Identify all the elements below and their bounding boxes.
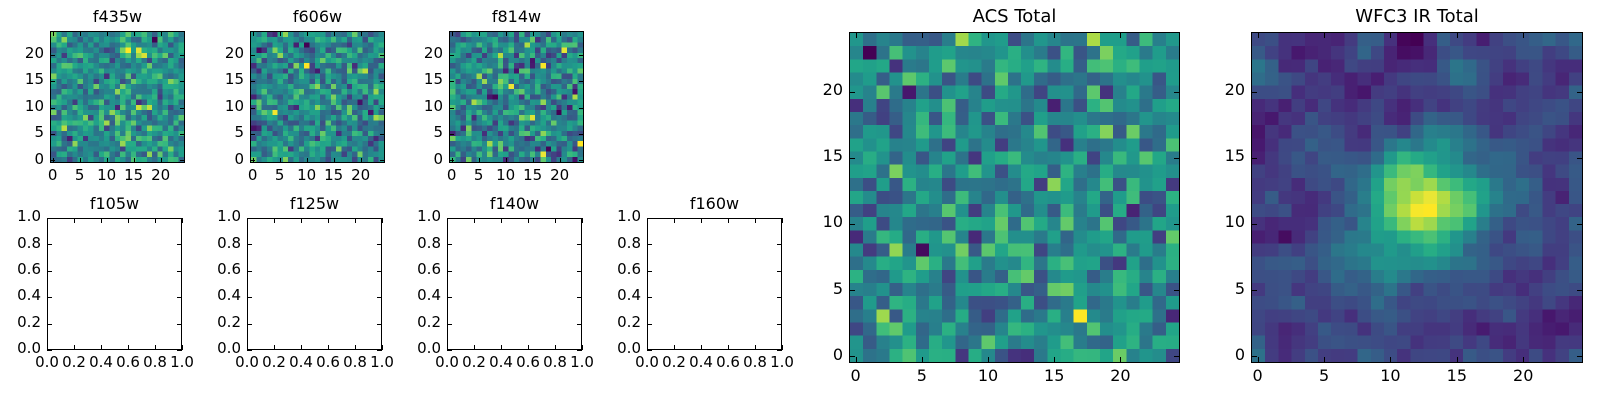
plot-area-acs_total[interactable] <box>849 32 1180 363</box>
xtick-top-f125w-2 <box>301 218 302 223</box>
ytick-f140w-5 <box>447 218 452 219</box>
yticklabel-f435w-0: 0 <box>0 150 44 168</box>
yticklabel-f140w-4: 0.8 <box>361 234 441 252</box>
ytick-f606w-2 <box>250 108 255 109</box>
ytick-right-f814w-3 <box>579 81 584 82</box>
ytick-f814w-1 <box>449 134 454 135</box>
yticklabel-f814w-3: 15 <box>363 70 443 88</box>
xtick-top-wfc3_ir_total-0 <box>1258 32 1259 38</box>
xtick-top-f140w-4 <box>555 218 556 223</box>
xtick-top-f435w-4 <box>161 31 162 36</box>
xticklabel-f606w-4: 20 <box>321 166 401 184</box>
yticklabel-f140w-5: 1.0 <box>361 207 441 225</box>
xtick-wfc3_ir_total-1 <box>1324 357 1325 363</box>
xtick-f105w-4 <box>155 345 156 350</box>
xtick-top-acs_total-0 <box>856 32 857 38</box>
xtick-top-f160w-4 <box>755 218 756 223</box>
xtick-f814w-4 <box>560 158 561 163</box>
xtick-f814w-2 <box>506 158 507 163</box>
yticklabel-f105w-1: 0.2 <box>0 313 41 331</box>
ytick-acs_total-1 <box>849 290 855 291</box>
ytick-f435w-0 <box>50 160 55 161</box>
xtick-f814w-1 <box>479 158 480 163</box>
xtick-top-f140w-3 <box>528 218 529 223</box>
yticklabel-f105w-0: 0.0 <box>0 339 41 357</box>
xtick-acs_total-4 <box>1120 357 1121 363</box>
xtick-top-acs_total-4 <box>1120 32 1121 38</box>
xticklabel-wfc3_ir_total-4: 20 <box>1483 366 1563 385</box>
ytick-right-f160w-3 <box>777 271 782 272</box>
ytick-wfc3_ir_total-2 <box>1251 224 1257 225</box>
ytick-f606w-0 <box>250 160 255 161</box>
xtick-top-acs_total-2 <box>988 32 989 38</box>
xtick-top-f606w-1 <box>280 31 281 36</box>
yticklabel-f435w-3: 15 <box>0 70 44 88</box>
ytick-f140w-2 <box>447 297 452 298</box>
yticklabel-acs_total-3: 15 <box>763 146 843 165</box>
yticklabel-f125w-1: 0.2 <box>161 313 241 331</box>
yticklabel-f435w-2: 10 <box>0 97 44 115</box>
xtick-top-f105w-3 <box>128 218 129 223</box>
ytick-acs_total-3 <box>849 158 855 159</box>
ytick-f435w-3 <box>50 81 55 82</box>
ytick-f160w-5 <box>647 218 652 219</box>
xtick-top-wfc3_ir_total-1 <box>1324 32 1325 38</box>
yticklabel-wfc3_ir_total-4: 20 <box>1165 80 1245 99</box>
yticklabel-f105w-3: 0.6 <box>0 260 41 278</box>
ytick-right-f814w-0 <box>579 160 584 161</box>
xtick-f814w-3 <box>533 158 534 163</box>
ytick-right-wfc3_ir_total-4 <box>1577 92 1583 93</box>
ytick-acs_total-4 <box>849 92 855 93</box>
xtick-top-f606w-3 <box>334 31 335 36</box>
xtick-top-f105w-2 <box>101 218 102 223</box>
ytick-f125w-5 <box>247 218 252 219</box>
ytick-f814w-4 <box>449 55 454 56</box>
yticklabel-f125w-4: 0.8 <box>161 234 241 252</box>
yticklabel-wfc3_ir_total-0: 0 <box>1165 345 1245 364</box>
xtick-f125w-2 <box>301 345 302 350</box>
yticklabel-f814w-0: 0 <box>363 150 443 168</box>
panel-title-acs_total: ACS Total <box>849 6 1180 27</box>
ytick-f160w-4 <box>647 244 652 245</box>
ytick-f105w-0 <box>47 350 52 351</box>
xtick-top-f105w-4 <box>155 218 156 223</box>
yticklabel-acs_total-2: 10 <box>763 212 843 231</box>
ytick-f140w-3 <box>447 271 452 272</box>
panel-title-wfc3_ir_total: WFC3 IR Total <box>1251 6 1583 27</box>
xtick-top-f125w-1 <box>274 218 275 223</box>
xtick-f160w-1 <box>674 345 675 350</box>
ytick-f435w-1 <box>50 134 55 135</box>
xtick-top-f140w-1 <box>474 218 475 223</box>
xtick-top-f125w-3 <box>328 218 329 223</box>
xtick-top-f435w-1 <box>80 31 81 36</box>
yticklabel-f125w-2: 0.4 <box>161 286 241 304</box>
panel-title-f160w: f160w <box>647 194 782 213</box>
ytick-f105w-1 <box>47 324 52 325</box>
ytick-right-f814w-1 <box>579 134 584 135</box>
ytick-f814w-3 <box>449 81 454 82</box>
xtick-top-wfc3_ir_total-2 <box>1390 32 1391 38</box>
ytick-wfc3_ir_total-4 <box>1251 92 1257 93</box>
ytick-acs_total-0 <box>849 356 855 357</box>
yticklabel-wfc3_ir_total-1: 5 <box>1165 279 1245 298</box>
ytick-right-wfc3_ir_total-3 <box>1577 158 1583 159</box>
ytick-wfc3_ir_total-3 <box>1251 158 1257 159</box>
xtick-f435w-3 <box>134 158 135 163</box>
plot-area-f814w[interactable] <box>449 31 584 163</box>
xtick-f435w-4 <box>161 158 162 163</box>
xtick-top-f140w-2 <box>501 218 502 223</box>
xtick-acs_total-1 <box>922 357 923 363</box>
heatmap-image-wfc3_ir_total <box>1252 33 1582 362</box>
yticklabel-f606w-1: 5 <box>164 123 244 141</box>
ytick-f814w-0 <box>449 160 454 161</box>
yticklabel-f814w-1: 5 <box>363 123 443 141</box>
yticklabel-f606w-3: 15 <box>164 70 244 88</box>
yticklabel-f125w-5: 1.0 <box>161 207 241 225</box>
ytick-f606w-1 <box>250 134 255 135</box>
yticklabel-f160w-3: 0.6 <box>561 260 641 278</box>
xtick-wfc3_ir_total-4 <box>1523 357 1524 363</box>
yticklabel-wfc3_ir_total-2: 10 <box>1165 212 1245 231</box>
xtick-f435w-1 <box>80 158 81 163</box>
xtick-top-f435w-3 <box>134 31 135 36</box>
yticklabel-f606w-0: 0 <box>164 150 244 168</box>
yticklabel-f160w-4: 0.8 <box>561 234 641 252</box>
xtick-top-f160w-2 <box>701 218 702 223</box>
yticklabel-f435w-4: 20 <box>0 44 44 62</box>
xtick-f140w-4 <box>555 345 556 350</box>
heatmap-image-acs_total <box>850 33 1179 362</box>
xtick-f140w-1 <box>474 345 475 350</box>
ytick-right-f160w-4 <box>777 244 782 245</box>
xtick-f606w-4 <box>361 158 362 163</box>
plot-area-wfc3_ir_total[interactable] <box>1251 32 1583 363</box>
yticklabel-f814w-4: 20 <box>363 44 443 62</box>
panel-title-f435w: f435w <box>50 7 185 26</box>
yticklabel-f105w-5: 1.0 <box>0 207 41 225</box>
xtick-f105w-1 <box>74 345 75 350</box>
yticklabel-f125w-0: 0.0 <box>161 339 241 357</box>
xtick-top-f814w-4 <box>560 31 561 36</box>
ytick-f435w-2 <box>50 108 55 109</box>
yticklabel-f105w-4: 0.8 <box>0 234 41 252</box>
xtick-top-f814w-0 <box>452 31 453 36</box>
xtick-f125w-3 <box>328 345 329 350</box>
yticklabel-f140w-1: 0.2 <box>361 313 441 331</box>
xtick-acs_total-0 <box>856 357 857 363</box>
xtick-top-acs_total-3 <box>1054 32 1055 38</box>
yticklabel-f160w-1: 0.2 <box>561 313 641 331</box>
xtick-top-wfc3_ir_total-3 <box>1457 32 1458 38</box>
ytick-wfc3_ir_total-1 <box>1251 290 1257 291</box>
xtick-top-acs_total-1 <box>922 32 923 38</box>
xtick-wfc3_ir_total-3 <box>1457 357 1458 363</box>
ytick-wfc3_ir_total-0 <box>1251 356 1257 357</box>
xtick-f105w-3 <box>128 345 129 350</box>
yticklabel-acs_total-1: 5 <box>763 279 843 298</box>
xtick-f606w-2 <box>307 158 308 163</box>
yticklabel-f160w-5: 1.0 <box>561 207 641 225</box>
ytick-f140w-1 <box>447 324 452 325</box>
xtick-top-f160w-1 <box>674 218 675 223</box>
xtick-top-f125w-4 <box>355 218 356 223</box>
ytick-f435w-4 <box>50 55 55 56</box>
yticklabel-wfc3_ir_total-3: 15 <box>1165 146 1245 165</box>
xtick-wfc3_ir_total-2 <box>1390 357 1391 363</box>
xtick-f140w-2 <box>501 345 502 350</box>
xtick-f125w-1 <box>274 345 275 350</box>
yticklabel-f160w-2: 0.4 <box>561 286 641 304</box>
ytick-f140w-4 <box>447 244 452 245</box>
ytick-right-wfc3_ir_total-2 <box>1577 224 1583 225</box>
ytick-f125w-3 <box>247 271 252 272</box>
ytick-f125w-1 <box>247 324 252 325</box>
ytick-f160w-3 <box>647 271 652 272</box>
ytick-right-wfc3_ir_total-0 <box>1577 356 1583 357</box>
xtick-top-f435w-0 <box>53 31 54 36</box>
yticklabel-f140w-2: 0.4 <box>361 286 441 304</box>
xtick-wfc3_ir_total-0 <box>1258 357 1259 363</box>
ytick-f105w-4 <box>47 244 52 245</box>
xticklabel-f814w-4: 20 <box>520 166 600 184</box>
ytick-right-f814w-2 <box>579 108 584 109</box>
ytick-acs_total-2 <box>849 224 855 225</box>
ytick-right-wfc3_ir_total-1 <box>1577 290 1583 291</box>
yticklabel-f105w-2: 0.4 <box>0 286 41 304</box>
ytick-f125w-2 <box>247 297 252 298</box>
xtick-f606w-1 <box>280 158 281 163</box>
ytick-f105w-5 <box>47 218 52 219</box>
xtick-top-f814w-2 <box>506 31 507 36</box>
yticklabel-acs_total-0: 0 <box>763 345 843 364</box>
ytick-f160w-0 <box>647 350 652 351</box>
panel-title-f814w: f814w <box>449 7 584 26</box>
plot-area-f160w[interactable] <box>647 218 782 350</box>
ytick-f125w-0 <box>247 350 252 351</box>
yticklabel-f606w-4: 20 <box>164 44 244 62</box>
yticklabel-f814w-2: 10 <box>363 97 443 115</box>
xtick-top-f105w-1 <box>74 218 75 223</box>
ytick-f105w-3 <box>47 271 52 272</box>
xtick-top-f435w-2 <box>107 31 108 36</box>
xtick-f105w-2 <box>101 345 102 350</box>
xtick-top-f160w-3 <box>728 218 729 223</box>
xtick-top-f606w-0 <box>253 31 254 36</box>
ytick-right-f814w-4 <box>579 55 584 56</box>
ytick-f160w-1 <box>647 324 652 325</box>
xticklabel-acs_total-4: 20 <box>1080 366 1160 385</box>
xtick-top-wfc3_ir_total-4 <box>1523 32 1524 38</box>
panel-title-f606w: f606w <box>250 7 385 26</box>
yticklabel-acs_total-4: 20 <box>763 80 843 99</box>
figure-canvas: f435w0510152005101520f606w05101520051015… <box>0 0 1600 400</box>
xtick-acs_total-2 <box>988 357 989 363</box>
ytick-f606w-4 <box>250 55 255 56</box>
ytick-f125w-4 <box>247 244 252 245</box>
ytick-f105w-2 <box>47 297 52 298</box>
ytick-right-f160w-1 <box>777 324 782 325</box>
xtick-f160w-4 <box>755 345 756 350</box>
xtick-f606w-3 <box>334 158 335 163</box>
yticklabel-f435w-1: 5 <box>0 123 44 141</box>
xticklabel-f435w-4: 20 <box>121 166 201 184</box>
yticklabel-f140w-3: 0.6 <box>361 260 441 278</box>
ytick-f814w-2 <box>449 108 454 109</box>
xtick-acs_total-3 <box>1054 357 1055 363</box>
xtick-f160w-3 <box>728 345 729 350</box>
xtick-top-f606w-2 <box>307 31 308 36</box>
xtick-f160w-2 <box>701 345 702 350</box>
yticklabel-f140w-0: 0.0 <box>361 339 441 357</box>
xtick-f435w-2 <box>107 158 108 163</box>
xtick-top-f814w-1 <box>479 31 480 36</box>
yticklabel-f125w-3: 0.6 <box>161 260 241 278</box>
xtick-f140w-3 <box>528 345 529 350</box>
ytick-f160w-2 <box>647 297 652 298</box>
yticklabel-f606w-2: 10 <box>164 97 244 115</box>
xtick-top-f606w-4 <box>361 31 362 36</box>
xtick-top-f814w-3 <box>533 31 534 36</box>
heatmap-image-f814w <box>450 32 583 162</box>
yticklabel-f160w-0: 0.0 <box>561 339 641 357</box>
xtick-f125w-4 <box>355 345 356 350</box>
ytick-f606w-3 <box>250 81 255 82</box>
ytick-f140w-0 <box>447 350 452 351</box>
